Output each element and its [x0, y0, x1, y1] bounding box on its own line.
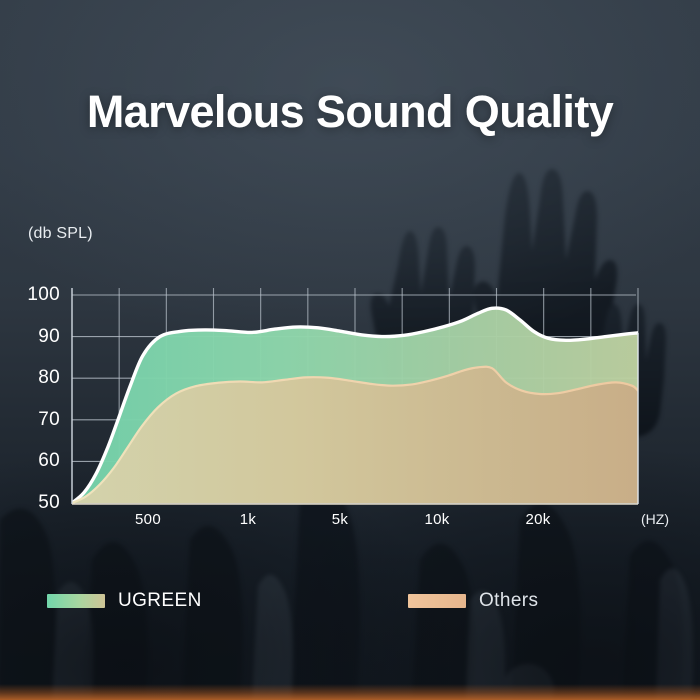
y-tick-label: 60 [14, 450, 60, 472]
promo-banner: Marvelous Sound Quality (db SPL) (HZ) [0, 0, 700, 700]
x-tick-label: 5k [332, 511, 348, 528]
chart-legend: UGREEN Others [0, 590, 700, 612]
legend-item-ugreen[interactable]: UGREEN [47, 590, 202, 612]
y-tick-label: 100 [14, 284, 60, 306]
legend-label-others: Others [479, 590, 538, 612]
x-tick-label: 500 [135, 511, 161, 528]
y-axis-unit-label: (db SPL) [28, 225, 93, 243]
legend-swatch-tan-icon [408, 594, 466, 608]
x-axis-unit-label: (HZ) [641, 511, 669, 527]
legend-swatch-green-icon [47, 594, 105, 608]
chart-series-areas [72, 308, 638, 503]
y-tick-label: 80 [14, 367, 60, 389]
legend-label-ugreen: UGREEN [118, 590, 202, 612]
y-tick-label: 50 [14, 492, 60, 514]
x-tick-label: 1k [240, 511, 256, 528]
x-tick-label: 10k [424, 511, 449, 528]
legend-item-others[interactable]: Others [408, 590, 538, 612]
y-tick-label: 90 [14, 326, 60, 348]
y-tick-label: 70 [14, 409, 60, 431]
x-tick-label: 20k [525, 511, 550, 528]
